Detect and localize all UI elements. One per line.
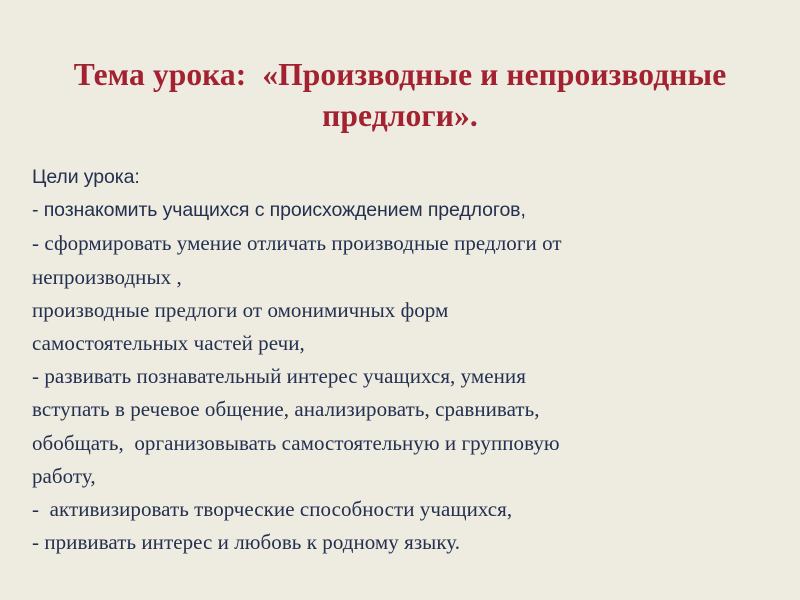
body-line-7: вступать в речевое общение, анализироват… [32, 393, 772, 426]
body-line-11: - прививать интерес и любовь к родному я… [32, 526, 772, 559]
slide-title: Тема урока: «Производные и непроизводные… [18, 54, 782, 136]
title-line-1: Тема урока: «Производные и непроизводные [18, 54, 782, 95]
body-line-2: - сформировать умение отличать производн… [32, 227, 772, 260]
body-heading-goals: Цели урока: [32, 161, 772, 194]
body-line-1: - познакомить учащихся с происхождением … [32, 194, 772, 227]
body-line-6: - развивать познавательный интерес учащи… [32, 360, 772, 393]
title-line-2: предлоги». [18, 95, 782, 136]
body-line-10: - активизировать творческие способности … [32, 493, 772, 526]
body-line-4: производные предлоги от омонимичных форм [32, 294, 772, 327]
body-line-9: работу, [32, 460, 772, 493]
slide-canvas: Тема урока: «Производные и непроизводные… [0, 0, 800, 600]
body-line-5: самостоятельных частей речи, [32, 327, 772, 360]
body-line-3: непроизводных , [32, 261, 772, 294]
body-line-8: обобщать, организовывать самостоятельную… [32, 427, 772, 460]
slide-body: Цели урока: - познакомить учащихся с про… [32, 161, 772, 559]
